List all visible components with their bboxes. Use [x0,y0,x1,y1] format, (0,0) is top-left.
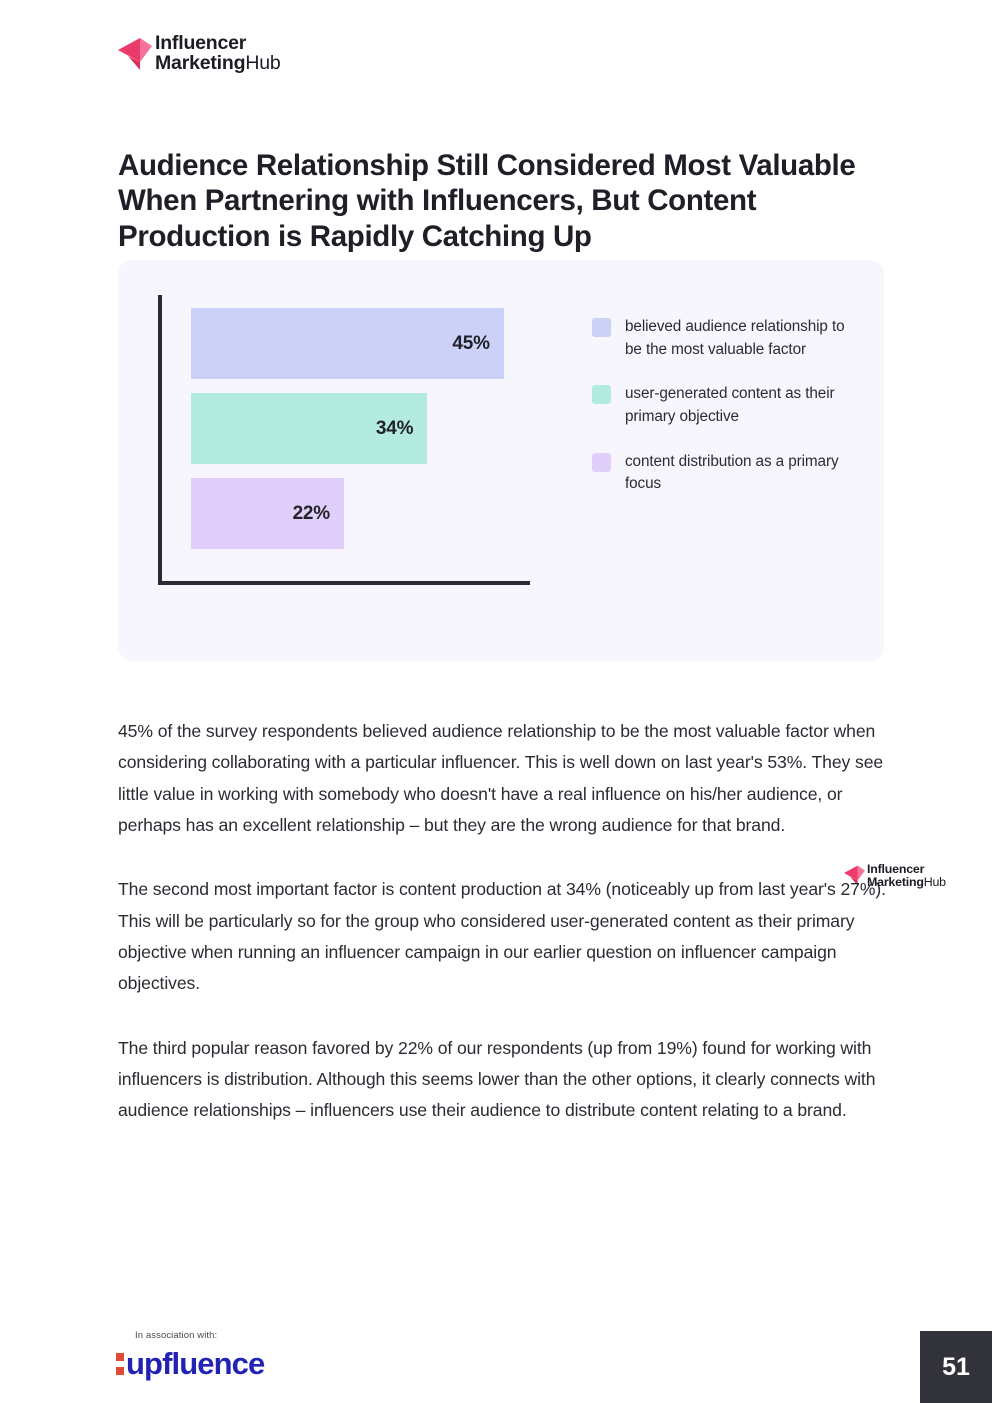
bar-value-label: 45% [452,333,489,355]
upfluence-wordmark: upfluence [126,1348,264,1379]
upfluence-dot-icon [116,1349,125,1379]
bar-user-generated-content: 34% [191,393,427,464]
legend-label: believed audience relationship to be the… [625,316,862,361]
paragraph-3: The third popular reason favored by 22% … [118,1033,893,1127]
page-number-badge: 51 [920,1331,992,1403]
bar-row: 22% [191,478,531,549]
page-title: Audience Relationship Still Considered M… [118,148,878,255]
x-axis-line [158,581,530,585]
influencer-marketinghub-mark-icon [118,36,152,72]
upfluence-logo: upfluence [116,1348,264,1379]
association-label: In association with: [135,1330,217,1341]
header-brand-text: Influencer MarketingHub [155,34,281,74]
chart-panel: 45% 34% 22% believed audience relationsh… [118,260,884,661]
brand-line-2-thin: Hub [924,875,946,889]
legend-item: content distribution as a primary focus [592,451,862,496]
bar-series: 45% 34% 22% [191,308,531,563]
legend-item: believed audience relationship to be the… [592,316,862,361]
y-axis-line [158,295,162,585]
paragraph-1: 45% of the survey respondents believed a… [118,716,893,841]
bar-row: 34% [191,393,531,464]
bar-audience-relationship: 45% [191,308,504,379]
brand-line-2-bold: Marketing [155,52,245,74]
header-brand-logo: Influencer MarketingHub [118,34,281,74]
legend-item: user-generated content as their primary … [592,383,862,428]
bar-value-label: 34% [376,418,413,440]
bar-row: 45% [191,308,531,379]
bar-content-distribution: 22% [191,478,344,549]
legend-swatch-green [592,385,611,404]
bar-value-label: 22% [293,503,330,525]
legend-swatch-purple [592,453,611,472]
body-copy: 45% of the survey respondents believed a… [118,716,893,1159]
paragraph-2: The second most important factor is cont… [118,874,893,999]
legend-swatch-blue [592,318,611,337]
chart-legend: believed audience relationship to be the… [592,316,862,518]
bar-chart-plot: 45% 34% 22% [158,295,530,585]
legend-label: user-generated content as their primary … [625,383,862,428]
legend-label: content distribution as a primary focus [625,451,862,496]
brand-line-2-thin: Hub [245,52,280,74]
